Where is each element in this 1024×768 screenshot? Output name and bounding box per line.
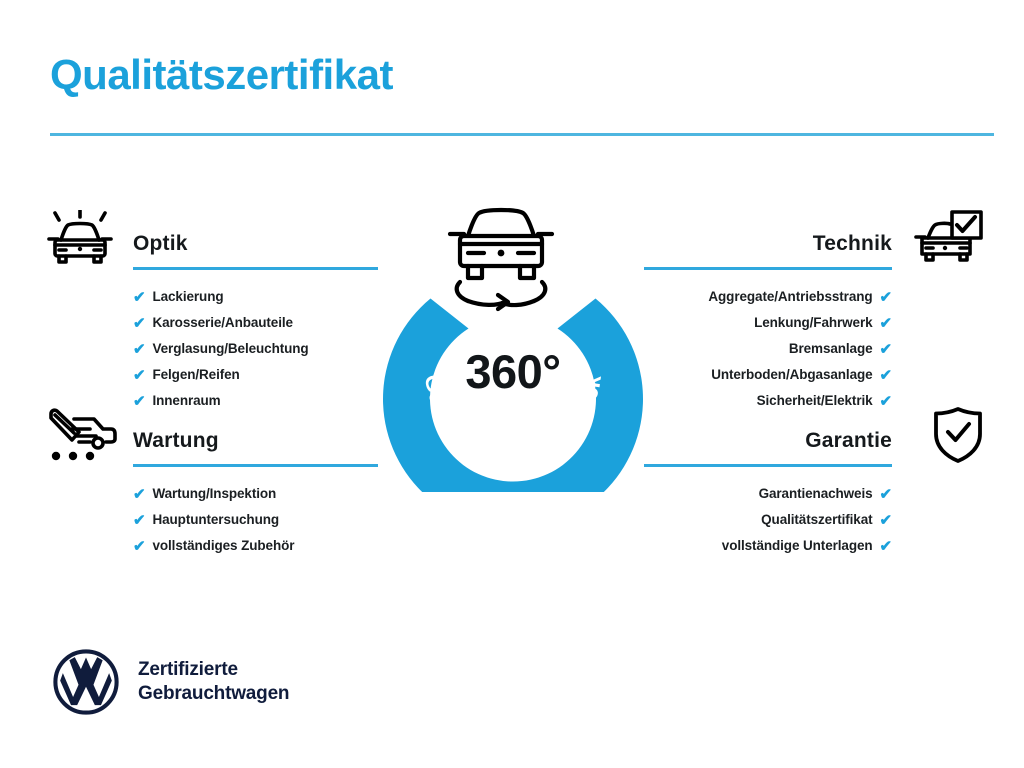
car-checkbox-icon	[898, 208, 984, 268]
page-title: Qualitätszertifikat	[50, 52, 393, 98]
list-item: ✔Hauptuntersuchung	[46, 507, 386, 533]
section-title: Wartung	[133, 429, 219, 453]
list-item: ✔Wartung/Inspektion	[46, 481, 386, 507]
header-divider	[50, 133, 994, 136]
section-underline	[644, 464, 892, 467]
list-item: Lenkung/Fahrwerk✔	[638, 310, 984, 336]
list-item-label: Lenkung/Fahrwerk	[754, 316, 872, 330]
list-item: ✔Verglasung/Beleuchtung	[46, 336, 386, 362]
check-icon: ✔	[133, 539, 145, 554]
volkswagen-logo	[52, 648, 120, 716]
check-icon: ✔	[880, 368, 892, 383]
check-icon: ✔	[880, 342, 892, 357]
section-title: Technik	[813, 232, 892, 256]
list-item: ✔vollständiges Zubehör	[46, 533, 386, 559]
section-garantie: Garantie Garantienachweis✔ Qualitätszert…	[638, 405, 984, 559]
list-item: vollständige Unterlagen✔	[638, 533, 984, 559]
list-item: ✔Felgen/Reifen	[46, 362, 386, 388]
checklist: Aggregate/Antriebsstrang✔ Lenkung/Fahrwe…	[638, 284, 984, 414]
list-item-label: Bremsanlage	[789, 342, 873, 356]
check-icon: ✔	[880, 487, 892, 502]
check-icon: ✔	[133, 316, 145, 331]
check-icon: ✔	[880, 539, 892, 554]
list-item-label: Aggregate/Antriebsstrang	[708, 290, 872, 304]
list-item: Bremsanlage✔	[638, 336, 984, 362]
check-icon: ✔	[880, 290, 892, 305]
brand-text: Zertifizierte Gebrauchtwagen	[138, 658, 289, 707]
badge-ring-graphic: Gebrauchtwagen-Check	[382, 196, 644, 492]
list-item: Aggregate/Antriebsstrang✔	[638, 284, 984, 310]
list-item-label: Karosserie/Anbauteile	[152, 316, 292, 330]
car-rotation-360-icon	[450, 210, 552, 309]
list-item: ✔Karosserie/Anbauteile	[46, 310, 386, 336]
check-icon: ✔	[133, 513, 145, 528]
list-item-label: Garantienachweis	[759, 487, 873, 501]
section-wartung: Wartung ✔Wartung/Inspektion ✔Hauptunters…	[46, 405, 386, 559]
list-item-label: Lackierung	[152, 290, 223, 304]
list-item-label: vollständige Unterlagen	[722, 539, 873, 553]
section-underline	[133, 267, 378, 270]
section-header: Wartung	[46, 405, 386, 467]
checklist: ✔Lackierung ✔Karosserie/Anbauteile ✔Verg…	[46, 284, 386, 414]
list-item: Qualitätszertifikat✔	[638, 507, 984, 533]
section-underline	[644, 267, 892, 270]
list-item-label: Verglasung/Beleuchtung	[152, 342, 308, 356]
section-optik: Optik ✔Lackierung ✔Karosserie/Anbauteile…	[46, 208, 386, 414]
brand-line-2: Gebrauchtwagen	[138, 682, 289, 706]
list-item: Garantienachweis✔	[638, 481, 984, 507]
list-item-label: Qualitätszertifikat	[761, 513, 872, 527]
check-icon: ✔	[880, 513, 892, 528]
list-item: ✔Lackierung	[46, 284, 386, 310]
section-title: Garantie	[805, 429, 892, 453]
certificate-page: Qualitätszertifikat Optik	[0, 0, 1024, 768]
check-icon: ✔	[133, 290, 145, 305]
section-underline	[133, 464, 378, 467]
section-header: Technik	[638, 208, 984, 270]
list-item-label: vollständiges Zubehör	[152, 539, 294, 553]
car-service-wrench-icon	[46, 405, 132, 465]
list-item-label: Unterboden/Abgasanlage	[711, 368, 872, 382]
brand-line-1: Zertifizierte	[138, 658, 289, 682]
list-item-label: Felgen/Reifen	[152, 368, 239, 382]
checklist: ✔Wartung/Inspektion ✔Hauptuntersuchung ✔…	[46, 481, 386, 559]
badge-360-gebrauchtwagen-check: Gebrauchtwagen-Check 360°	[382, 196, 644, 492]
list-item-label: Hauptuntersuchung	[152, 513, 279, 527]
list-item: Unterboden/Abgasanlage✔	[638, 362, 984, 388]
section-header: Optik	[46, 208, 386, 270]
section-technik: Technik Aggregate/Antriebsstrang✔ Lenkun…	[638, 208, 984, 414]
check-icon: ✔	[133, 368, 145, 383]
badge-center-label: 360°	[382, 348, 644, 395]
list-item-label: Wartung/Inspektion	[152, 487, 276, 501]
check-icon: ✔	[133, 487, 145, 502]
car-polish-shine-icon	[46, 208, 132, 268]
check-icon: ✔	[880, 316, 892, 331]
shield-check-icon	[898, 405, 984, 465]
footer-brand: Zertifizierte Gebrauchtwagen	[52, 648, 289, 716]
check-icon: ✔	[133, 342, 145, 357]
checklist: Garantienachweis✔ Qualitätszertifikat✔ v…	[638, 481, 984, 559]
section-header: Garantie	[638, 405, 984, 467]
section-title: Optik	[133, 232, 188, 256]
